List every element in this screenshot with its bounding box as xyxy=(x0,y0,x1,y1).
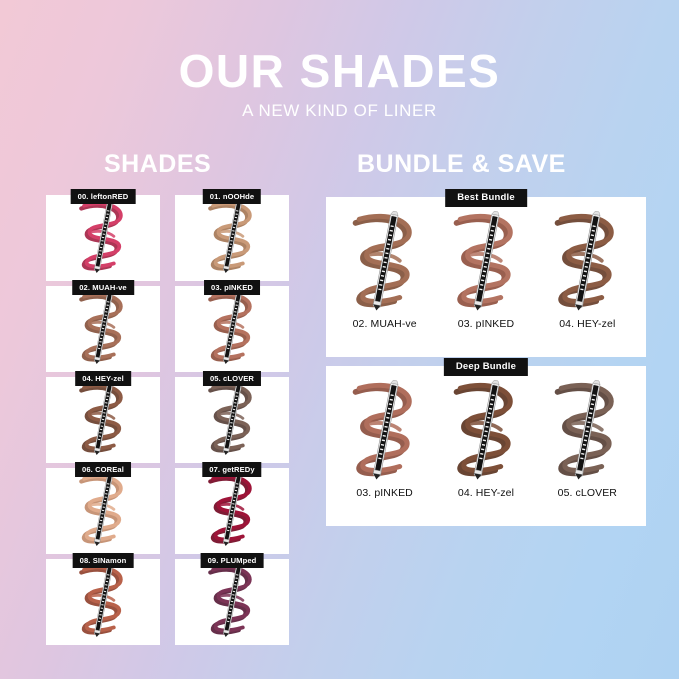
shade-swatch-artwork xyxy=(541,379,633,485)
shade-swatch-artwork xyxy=(198,381,266,459)
shade-label: 03. pINKED xyxy=(204,280,260,295)
shade-label: 06. COREal xyxy=(75,462,131,477)
shade-swatch-artwork xyxy=(69,199,137,277)
shade-card[interactable]: 05. cLOVER xyxy=(175,377,289,463)
bundle-tag: Best Bundle xyxy=(445,189,527,207)
shade-card[interactable]: 00. leftonRED xyxy=(46,195,160,281)
bundle-item-caption: 05. cLOVER xyxy=(539,487,635,499)
shade-swatch-artwork xyxy=(69,472,137,550)
shade-swatch xyxy=(175,468,289,554)
bundle-swatch xyxy=(539,378,635,486)
shade-swatch-artwork xyxy=(339,210,431,316)
shade-swatch-artwork xyxy=(198,563,266,641)
bundle-swatch xyxy=(438,209,534,317)
shade-card[interactable]: 08. SINamon xyxy=(46,559,160,645)
shade-card[interactable]: 01. nOOHde xyxy=(175,195,289,281)
shades-section-heading: SHADES xyxy=(104,150,211,179)
bundle-swatch xyxy=(337,209,433,317)
shade-label: 08. SINamon xyxy=(73,553,134,568)
shade-card[interactable]: 03. pINKED xyxy=(175,286,289,372)
shade-swatch-artwork xyxy=(440,210,532,316)
bundle-item[interactable]: 03. pINKED xyxy=(337,378,433,499)
shade-swatch xyxy=(46,286,160,372)
shade-swatch-artwork xyxy=(69,381,137,459)
bundle-item-caption: 04. HEY-zel xyxy=(539,318,635,330)
bundle-item[interactable]: 04. HEY-zel xyxy=(539,209,635,330)
bundle-items: 02. MUAH-ve xyxy=(334,209,638,351)
bundle-panel-best[interactable]: Best Bundle xyxy=(326,197,646,357)
bundle-item[interactable]: 04. HEY-zel xyxy=(438,378,534,499)
shade-swatch-artwork xyxy=(541,210,633,316)
bundle-item-caption: 02. MUAH-ve xyxy=(337,318,433,330)
bundle-item-caption: 03. pINKED xyxy=(438,318,534,330)
shade-swatch xyxy=(175,195,289,281)
shade-swatch-artwork xyxy=(69,563,137,641)
shade-label: 00. leftonRED xyxy=(71,189,136,204)
shade-swatch xyxy=(175,377,289,463)
shade-swatch-artwork xyxy=(198,472,266,550)
shades-grid: 00. leftonRED xyxy=(46,195,289,645)
bundle-item[interactable]: 02. MUAH-ve xyxy=(337,209,433,330)
shade-label: 05. cLOVER xyxy=(203,371,261,386)
shade-swatch xyxy=(175,559,289,645)
bundle-panel-deep[interactable]: Deep Bundle xyxy=(326,366,646,526)
shade-card[interactable]: 06. COREal xyxy=(46,468,160,554)
bundle-swatch xyxy=(337,378,433,486)
bundle-item-caption: 04. HEY-zel xyxy=(438,487,534,499)
shade-swatch xyxy=(46,195,160,281)
shade-card[interactable]: 07. getREDy xyxy=(175,468,289,554)
bundle-swatch xyxy=(539,209,635,317)
shade-label: 07. getREDy xyxy=(202,462,261,477)
bundle-item-caption: 03. pINKED xyxy=(337,487,433,499)
shade-label: 04. HEY-zel xyxy=(75,371,131,386)
shade-swatch-artwork xyxy=(198,290,266,368)
bundle-swatch xyxy=(438,378,534,486)
page-subtitle: A NEW KIND OF LINER xyxy=(0,101,679,121)
shade-label: 01. nOOHde xyxy=(203,189,261,204)
shade-swatch xyxy=(175,286,289,372)
shade-swatch-artwork xyxy=(339,379,431,485)
shade-label: 02. MUAH-ve xyxy=(72,280,134,295)
shade-swatch xyxy=(46,468,160,554)
page-title: OUR SHADES xyxy=(0,48,679,94)
shade-swatch-artwork xyxy=(440,379,532,485)
bundle-section-heading: BUNDLE & SAVE xyxy=(357,150,566,179)
bundle-item[interactable]: 03. pINKED xyxy=(438,209,534,330)
shade-swatch xyxy=(46,559,160,645)
shade-card[interactable]: 09. PLUMped xyxy=(175,559,289,645)
bundle-item[interactable]: 05. cLOVER xyxy=(539,378,635,499)
shade-card[interactable]: 04. HEY-zel xyxy=(46,377,160,463)
bundle-items: 03. pINKED xyxy=(334,378,638,520)
page-header: OUR SHADES A NEW KIND OF LINER xyxy=(0,48,679,121)
shade-label: 09. PLUMped xyxy=(201,553,264,568)
shade-swatch xyxy=(46,377,160,463)
shade-swatch-artwork xyxy=(69,290,137,368)
bundle-tag: Deep Bundle xyxy=(444,358,528,376)
shade-swatch-artwork xyxy=(198,199,266,277)
shade-card[interactable]: 02. MUAH-ve xyxy=(46,286,160,372)
